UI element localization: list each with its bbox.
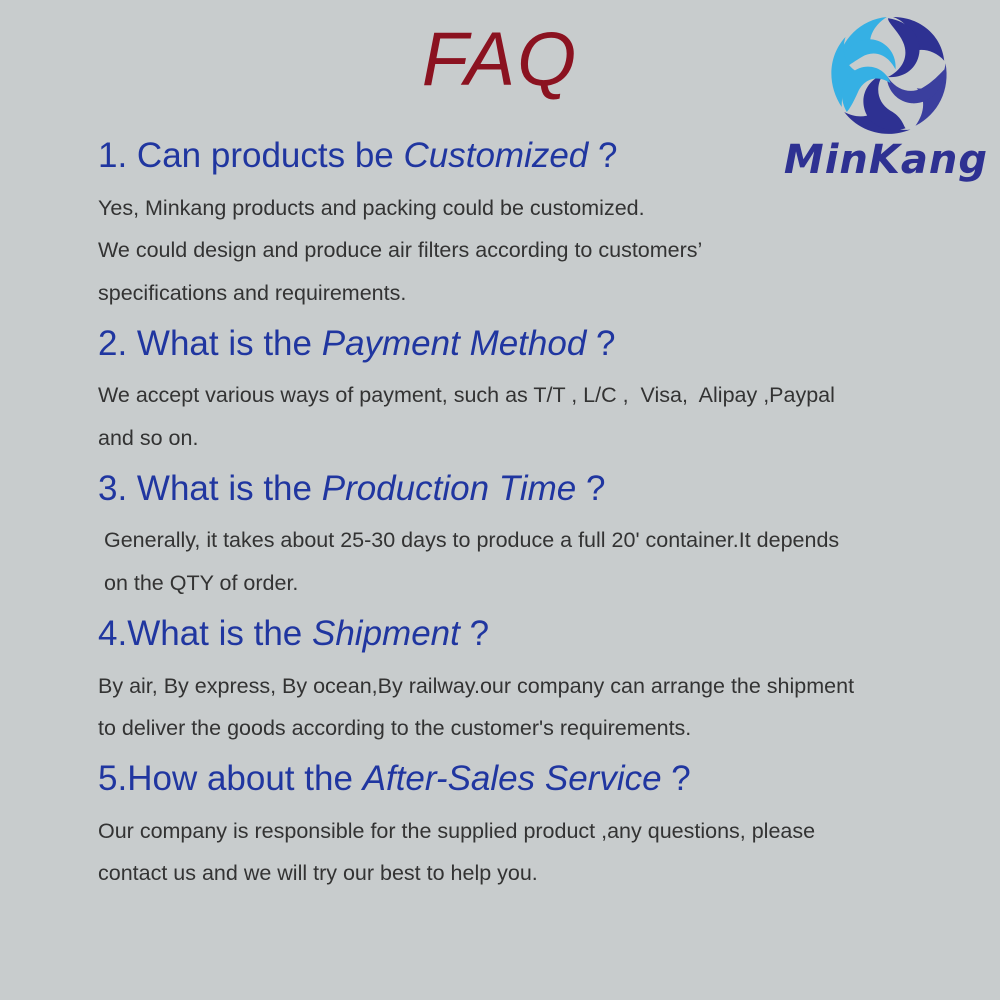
faq-question-3-number: 3. — [98, 469, 137, 508]
faq-question-2-number: 2. — [98, 324, 137, 363]
faq-question-1-emphasis: Customized — [403, 136, 588, 175]
faq-question-3: 3. What is the Production Time ? — [98, 466, 978, 513]
faq-question-3-emphasis: Production Time — [322, 469, 577, 508]
faq-answer-5: Our company is responsible for the suppl… — [98, 810, 978, 895]
faq-question-1: 1. Can products be Customized ? — [98, 133, 978, 180]
faq-question-3-tail: ? — [576, 469, 605, 508]
faq-item-1: 1. Can products be Customized ? Yes, Min… — [98, 133, 978, 315]
faq-answer-2: We accept various ways of payment, such … — [98, 374, 978, 459]
faq-question-2: 2. What is the Payment Method ? — [98, 321, 978, 368]
faq-question-4-number: 4. — [98, 614, 127, 653]
faq-list: 1. Can products be Customized ? Yes, Min… — [98, 133, 978, 895]
faq-question-1-number: 1. — [98, 136, 137, 175]
faq-question-2-lead: What is the — [137, 324, 322, 363]
faq-question-5: 5.How about the After-Sales Service ? — [98, 756, 978, 803]
faq-question-5-number: 5. — [98, 759, 127, 798]
faq-item-2: 2. What is the Payment Method ? We accep… — [98, 321, 978, 460]
minkang-swirl-logo-icon — [828, 12, 953, 137]
faq-item-4: 4.What is the Shipment ? By air, By expr… — [98, 611, 978, 750]
faq-question-1-lead: Can products be — [137, 136, 404, 175]
faq-answer-1: Yes, Minkang products and packing could … — [98, 187, 978, 315]
faq-question-1-tail: ? — [588, 136, 617, 175]
faq-question-2-emphasis: Payment Method — [322, 324, 587, 363]
faq-item-3: 3. What is the Production Time ? General… — [98, 466, 978, 605]
faq-question-4: 4.What is the Shipment ? — [98, 611, 978, 658]
faq-answer-4: By air, By express, By ocean,By railway.… — [98, 665, 978, 750]
faq-question-4-emphasis: Shipment — [312, 614, 460, 653]
faq-question-4-tail: ? — [460, 614, 489, 653]
faq-item-5: 5.How about the After-Sales Service ? Ou… — [98, 756, 978, 895]
faq-question-5-tail: ? — [662, 759, 691, 798]
faq-page: FAQ — [0, 0, 1000, 1000]
faq-answer-3: Generally, it takes about 25-30 days to … — [98, 519, 978, 604]
faq-question-2-tail: ? — [586, 324, 615, 363]
faq-question-5-lead: How about the — [127, 759, 362, 798]
faq-question-4-lead: What is the — [127, 614, 312, 653]
faq-question-5-emphasis: After-Sales Service — [363, 759, 662, 798]
faq-question-3-lead: What is the — [137, 469, 322, 508]
